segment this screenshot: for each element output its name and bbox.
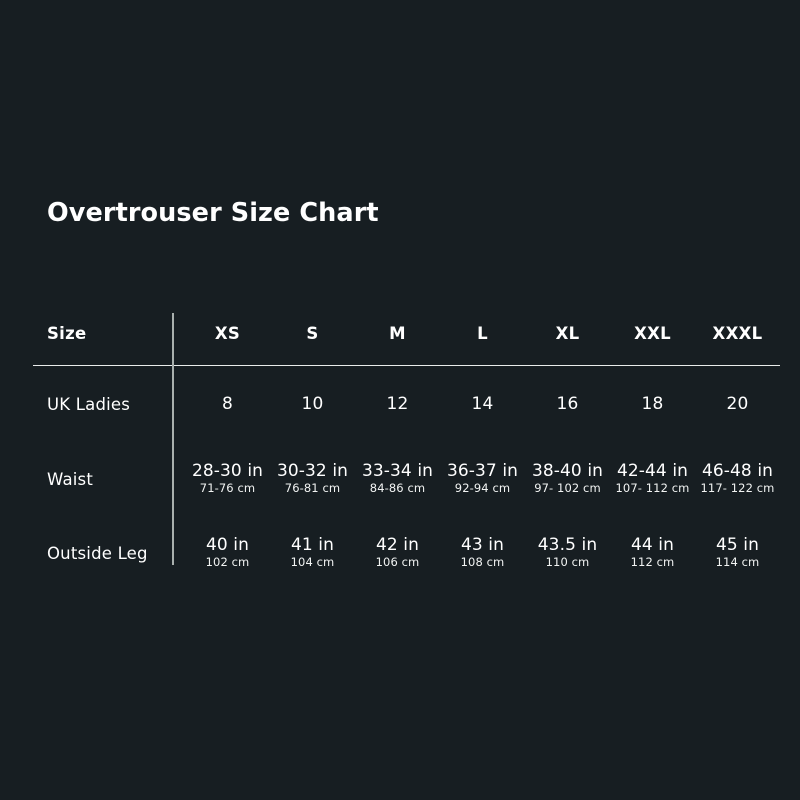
cell-value: 12 bbox=[386, 394, 408, 414]
column-header-xl: XL bbox=[525, 300, 610, 366]
cell-value-inches: 28-30 in bbox=[185, 461, 270, 481]
cell-value-cm: 117- 122 cm bbox=[695, 481, 780, 497]
cell-waist-xl: 38-40 in 97- 102 cm bbox=[525, 442, 610, 516]
cell-waist-l: 36-37 in 92-94 cm bbox=[440, 442, 525, 516]
cell-uk-ladies-s: 10 bbox=[270, 366, 355, 442]
cell-value-cm: 114 cm bbox=[695, 555, 780, 571]
cell-value-inches: 43.5 in bbox=[525, 535, 610, 555]
size-chart-page: Overtrouser Size Chart Size XS S M L XL … bbox=[0, 0, 800, 800]
cell-value-cm: 107- 112 cm bbox=[610, 481, 695, 497]
cell-value-cm: 108 cm bbox=[440, 555, 525, 571]
cell-value-inches: 36-37 in bbox=[440, 461, 525, 481]
table-row: UK Ladies 8 10 12 14 16 18 20 bbox=[33, 366, 780, 442]
cell-value-inches: 43 in bbox=[440, 535, 525, 555]
column-header-xxl: XXL bbox=[610, 300, 695, 366]
column-header-xs: XS bbox=[185, 300, 270, 366]
cell-value-inches: 46-48 in bbox=[695, 461, 780, 481]
cell-value: 16 bbox=[556, 394, 578, 414]
cell-value: 8 bbox=[222, 394, 233, 414]
cell-value-inches: 42-44 in bbox=[610, 461, 695, 481]
cell-value: 20 bbox=[726, 394, 748, 414]
cell-outside-leg-l: 43 in 108 cm bbox=[440, 516, 525, 590]
cell-waist-xxxl: 46-48 in 117- 122 cm bbox=[695, 442, 780, 516]
cell-value-inches: 42 in bbox=[355, 535, 440, 555]
table-header-row: Size XS S M L XL XXL XXXL bbox=[33, 300, 780, 366]
size-chart-table: Size XS S M L XL XXL XXXL UK Ladies 8 10… bbox=[33, 300, 780, 590]
column-header-l: L bbox=[440, 300, 525, 366]
cell-waist-xs: 28-30 in 71-76 cm bbox=[185, 442, 270, 516]
cell-waist-s: 30-32 in 76-81 cm bbox=[270, 442, 355, 516]
cell-value-inches: 30-32 in bbox=[270, 461, 355, 481]
cell-value-cm: 92-94 cm bbox=[440, 481, 525, 497]
table-row: Outside Leg 40 in 102 cm 41 in 104 cm 42… bbox=[33, 516, 780, 590]
cell-value-cm: 102 cm bbox=[185, 555, 270, 571]
cell-uk-ladies-l: 14 bbox=[440, 366, 525, 442]
cell-value-cm: 112 cm bbox=[610, 555, 695, 571]
cell-value-inches: 44 in bbox=[610, 535, 695, 555]
cell-value-cm: 110 cm bbox=[525, 555, 610, 571]
cell-uk-ladies-xxxl: 20 bbox=[695, 366, 780, 442]
column-header-size: Size bbox=[33, 300, 185, 366]
cell-value: 14 bbox=[471, 394, 493, 414]
cell-value-cm: 104 cm bbox=[270, 555, 355, 571]
cell-value-inches: 40 in bbox=[185, 535, 270, 555]
cell-uk-ladies-xl: 16 bbox=[525, 366, 610, 442]
table-row: Waist 28-30 in 71-76 cm 30-32 in 76-81 c… bbox=[33, 442, 780, 516]
row-label-uk-ladies: UK Ladies bbox=[33, 366, 185, 442]
cell-uk-ladies-m: 12 bbox=[355, 366, 440, 442]
row-label-outside-leg: Outside Leg bbox=[33, 516, 185, 590]
cell-value-cm: 84-86 cm bbox=[355, 481, 440, 497]
cell-value-cm: 106 cm bbox=[355, 555, 440, 571]
cell-value-inches: 33-34 in bbox=[355, 461, 440, 481]
cell-outside-leg-xxl: 44 in 112 cm bbox=[610, 516, 695, 590]
cell-value-cm: 76-81 cm bbox=[270, 481, 355, 497]
page-title: Overtrouser Size Chart bbox=[47, 198, 379, 228]
cell-waist-m: 33-34 in 84-86 cm bbox=[355, 442, 440, 516]
cell-outside-leg-s: 41 in 104 cm bbox=[270, 516, 355, 590]
column-header-m: M bbox=[355, 300, 440, 366]
cell-value-inches: 45 in bbox=[695, 535, 780, 555]
cell-value: 18 bbox=[641, 394, 663, 414]
cell-outside-leg-xs: 40 in 102 cm bbox=[185, 516, 270, 590]
cell-value-inches: 38-40 in bbox=[525, 461, 610, 481]
cell-value: 10 bbox=[301, 394, 323, 414]
column-header-s: S bbox=[270, 300, 355, 366]
cell-outside-leg-m: 42 in 106 cm bbox=[355, 516, 440, 590]
cell-waist-xxl: 42-44 in 107- 112 cm bbox=[610, 442, 695, 516]
cell-outside-leg-xxxl: 45 in 114 cm bbox=[695, 516, 780, 590]
cell-value-cm: 97- 102 cm bbox=[525, 481, 610, 497]
cell-value-inches: 41 in bbox=[270, 535, 355, 555]
column-header-xxxl: XXXL bbox=[695, 300, 780, 366]
cell-uk-ladies-xxl: 18 bbox=[610, 366, 695, 442]
cell-outside-leg-xl: 43.5 in 110 cm bbox=[525, 516, 610, 590]
cell-value-cm: 71-76 cm bbox=[185, 481, 270, 497]
row-label-waist: Waist bbox=[33, 442, 185, 516]
cell-uk-ladies-xs: 8 bbox=[185, 366, 270, 442]
